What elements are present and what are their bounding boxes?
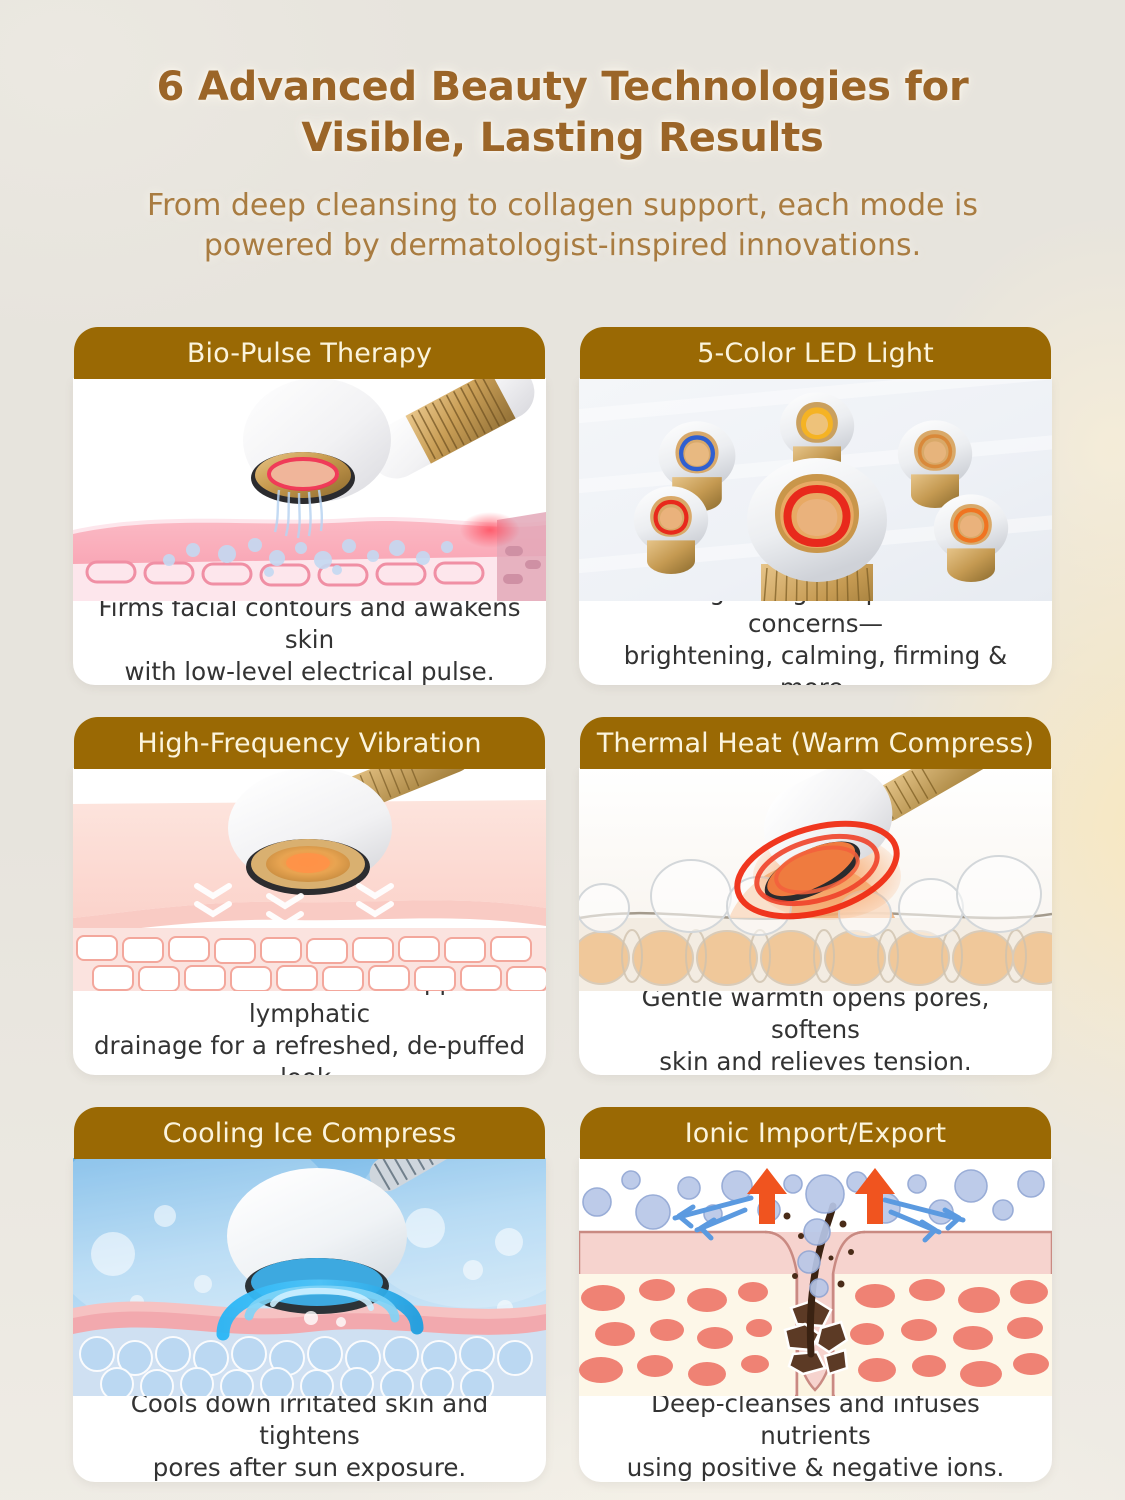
card-caption: Firms facial contours and awakens skin w… xyxy=(73,601,546,685)
page-title: 6 Advanced Beauty Technologies for Visib… xyxy=(0,0,1125,164)
card-cooling-ice-compress: Cooling Ice Compress xyxy=(73,1107,546,1482)
card-bio-pulse-therapy: Bio-Pulse Therapy xyxy=(73,327,546,685)
card-body: Cools down irritated skin and tightens p… xyxy=(73,1158,546,1482)
card-5-color-led-light: 5-Color LED Light xyxy=(579,327,1052,685)
caption-line-1: Deep-cleanses and infuses nutrients xyxy=(595,1388,1036,1452)
card-title: 5-Color LED Light xyxy=(697,340,934,367)
card-body: Deep-cleanses and infuses nutrients usin… xyxy=(579,1158,1052,1482)
caption-line-2: using positive & negative ions. xyxy=(595,1452,1036,1482)
thermal-heat-illustration xyxy=(579,768,1052,991)
caption-line-2: pores after sun exposure. xyxy=(89,1452,530,1482)
card-thermal-heat: Thermal Heat (Warm Compress) xyxy=(579,717,1052,1075)
card-caption: Boosts circulation and supports lymphati… xyxy=(73,991,546,1075)
caption-line-2: brightening, calming, firming & more. xyxy=(595,640,1036,685)
card-body: Firms facial contours and awakens skin w… xyxy=(73,378,546,685)
caption-line-2: skin and relieves tension. xyxy=(595,1046,1036,1075)
card-ionic-import-export: Ionic Import/Export xyxy=(579,1107,1052,1482)
card-title: Ionic Import/Export xyxy=(685,1120,947,1147)
caption-line-1: Gentle warmth opens pores, softens xyxy=(595,982,1036,1046)
card-header-bar: 5-Color LED Light xyxy=(580,327,1051,379)
card-header-bar: Cooling Ice Compress xyxy=(74,1107,545,1159)
led-light-illustration xyxy=(579,378,1052,601)
card-title: High-Frequency Vibration xyxy=(137,730,481,757)
bio-pulse-illustration xyxy=(73,378,546,601)
ionic-illustration xyxy=(579,1158,1052,1396)
card-caption: Each light targets specific skin concern… xyxy=(579,601,1052,685)
card-high-frequency-vibration: High-Frequency Vibration xyxy=(73,717,546,1075)
infographic-page: 6 Advanced Beauty Technologies for Visib… xyxy=(0,0,1125,1500)
card-header-bar: Thermal Heat (Warm Compress) xyxy=(580,717,1051,769)
card-caption: Deep-cleanses and infuses nutrients usin… xyxy=(579,1396,1052,1482)
card-header-bar: High-Frequency Vibration xyxy=(74,717,545,769)
technology-card-grid: Bio-Pulse Therapy xyxy=(73,327,1052,1482)
card-caption: Cools down irritated skin and tightens p… xyxy=(73,1396,546,1482)
card-title: Thermal Heat (Warm Compress) xyxy=(597,730,1034,757)
cooling-illustration xyxy=(73,1158,546,1396)
caption-line-2: with low-level electrical pulse. xyxy=(89,656,530,685)
caption-line-1: Cools down irritated skin and tightens xyxy=(89,1388,530,1452)
card-body: Each light targets specific skin concern… xyxy=(579,378,1052,685)
caption-line-2: drainage for a refreshed, de-puffed look… xyxy=(89,1030,530,1075)
card-caption: Gentle warmth opens pores, softens skin … xyxy=(579,991,1052,1075)
card-header-bar: Bio-Pulse Therapy xyxy=(74,327,545,379)
caption-line-1: Firms facial contours and awakens skin xyxy=(89,592,530,656)
card-title: Cooling Ice Compress xyxy=(163,1120,457,1147)
card-body: Gentle warmth opens pores, softens skin … xyxy=(579,768,1052,1075)
card-body: Boosts circulation and supports lymphati… xyxy=(73,768,546,1075)
page-subtitle: From deep cleansing to collagen support,… xyxy=(0,164,1125,266)
vibration-illustration xyxy=(73,768,546,991)
card-header-bar: Ionic Import/Export xyxy=(580,1107,1051,1159)
card-title: Bio-Pulse Therapy xyxy=(187,340,432,367)
